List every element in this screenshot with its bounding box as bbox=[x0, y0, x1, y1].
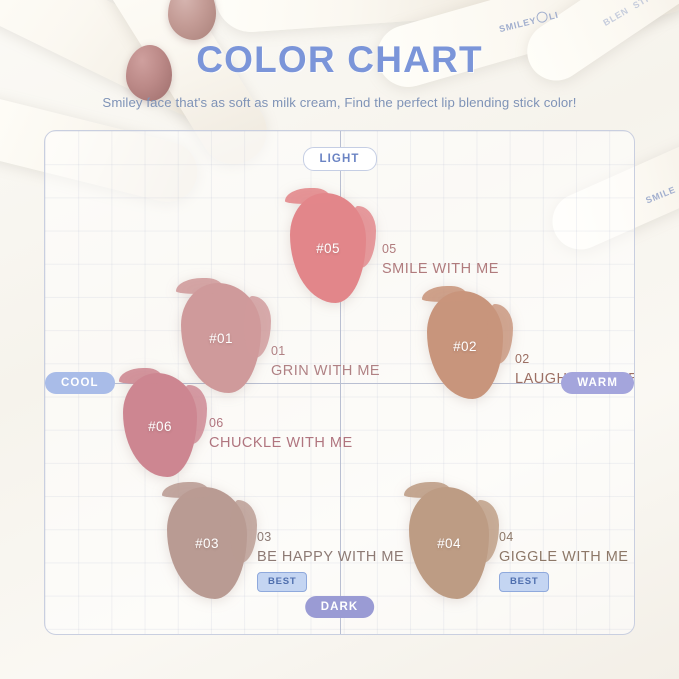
color-swatch[interactable]: #04 bbox=[409, 487, 489, 599]
page-title: COLOR CHART bbox=[0, 40, 679, 81]
color-number: 06 bbox=[209, 415, 353, 433]
swatch-code: #06 bbox=[123, 419, 197, 434]
color-name: GRIN WITH ME bbox=[271, 361, 380, 382]
axis-label-cool: COOL bbox=[45, 372, 115, 394]
color-caption: 04 GIGGLE WITH ME BEST bbox=[499, 529, 628, 592]
swatch-code: #04 bbox=[409, 536, 489, 551]
swatch-code: #05 bbox=[290, 241, 366, 256]
color-swatch[interactable]: #02 bbox=[427, 291, 503, 399]
color-caption: 03 BE HAPPY WITH ME BEST bbox=[257, 529, 404, 592]
header: COLOR CHART Smiley face that's as soft a… bbox=[0, 40, 679, 110]
axis-label-light: LIGHT bbox=[303, 147, 377, 171]
color-name: SMILE WITH ME bbox=[382, 259, 499, 280]
color-caption: 06 CHUCKLE WITH ME bbox=[209, 415, 353, 453]
swatch-code: #02 bbox=[427, 339, 503, 354]
color-entry[interactable]: #06 06 CHUCKLE WITH ME bbox=[123, 373, 197, 477]
color-name: CHUCKLE WITH ME bbox=[209, 433, 353, 454]
color-chart-grid: LIGHT DARK COOL WARM #05 05 SMILE WITH M… bbox=[44, 130, 635, 635]
color-number: 05 bbox=[382, 241, 499, 259]
axis-label-dark: DARK bbox=[305, 596, 375, 618]
color-entry[interactable]: #03 03 BE HAPPY WITH ME BEST bbox=[167, 487, 247, 599]
color-caption: 01 GRIN WITH ME bbox=[271, 343, 380, 381]
color-swatch[interactable]: #05 bbox=[290, 193, 366, 303]
color-caption: 05 SMILE WITH ME bbox=[382, 241, 499, 279]
color-swatch[interactable]: #06 bbox=[123, 373, 197, 477]
best-badge: BEST bbox=[499, 572, 549, 591]
color-swatch[interactable]: #03 bbox=[167, 487, 247, 599]
color-number: 02 bbox=[515, 351, 635, 369]
swatch-code: #03 bbox=[167, 536, 247, 551]
swatch-code: #01 bbox=[181, 331, 261, 346]
color-number: 04 bbox=[499, 529, 628, 547]
color-entry[interactable]: #02 02 LAUGH WITH ME bbox=[427, 291, 503, 399]
best-badge: BEST bbox=[257, 572, 307, 591]
color-entry[interactable]: #05 05 SMILE WITH ME bbox=[290, 193, 366, 303]
page-subtitle: Smiley face that's as soft as milk cream… bbox=[0, 95, 679, 110]
axis-label-warm: WARM bbox=[561, 372, 634, 394]
color-number: 03 bbox=[257, 529, 404, 547]
color-entry[interactable]: #04 04 GIGGLE WITH ME BEST bbox=[409, 487, 489, 599]
color-name: GIGGLE WITH ME bbox=[499, 547, 628, 568]
color-name: BE HAPPY WITH ME bbox=[257, 547, 404, 568]
color-number: 01 bbox=[271, 343, 380, 361]
